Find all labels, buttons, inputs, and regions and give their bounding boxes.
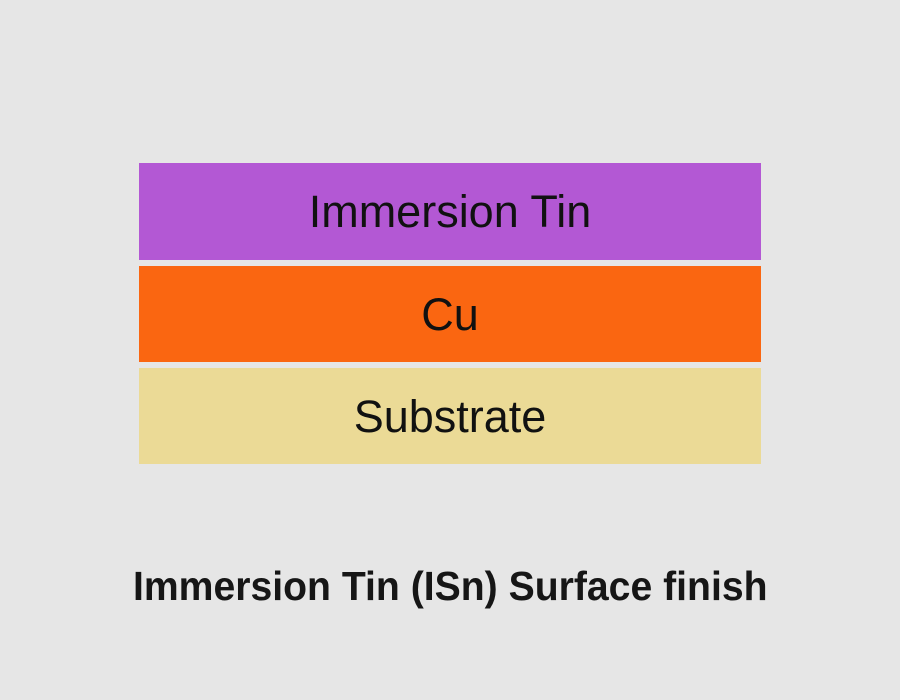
stack-layer-label-immersion-tin: Immersion Tin bbox=[309, 189, 592, 234]
stack-layer-cu: Cu bbox=[139, 266, 761, 362]
stack-layer-label-substrate: Substrate bbox=[354, 394, 547, 439]
stack-layer-label-cu: Cu bbox=[421, 292, 479, 337]
layer-stack-diagram: Immersion Tin Cu Substrate bbox=[139, 163, 761, 464]
diagram-title-text: Immersion Tin (ISn) Surface finish bbox=[133, 563, 768, 610]
stack-layer-immersion-tin: Immersion Tin bbox=[139, 163, 761, 260]
diagram-caption: Immersion Tin (ISn) Surface finish bbox=[0, 563, 900, 610]
stack-layer-substrate: Substrate bbox=[139, 368, 761, 464]
